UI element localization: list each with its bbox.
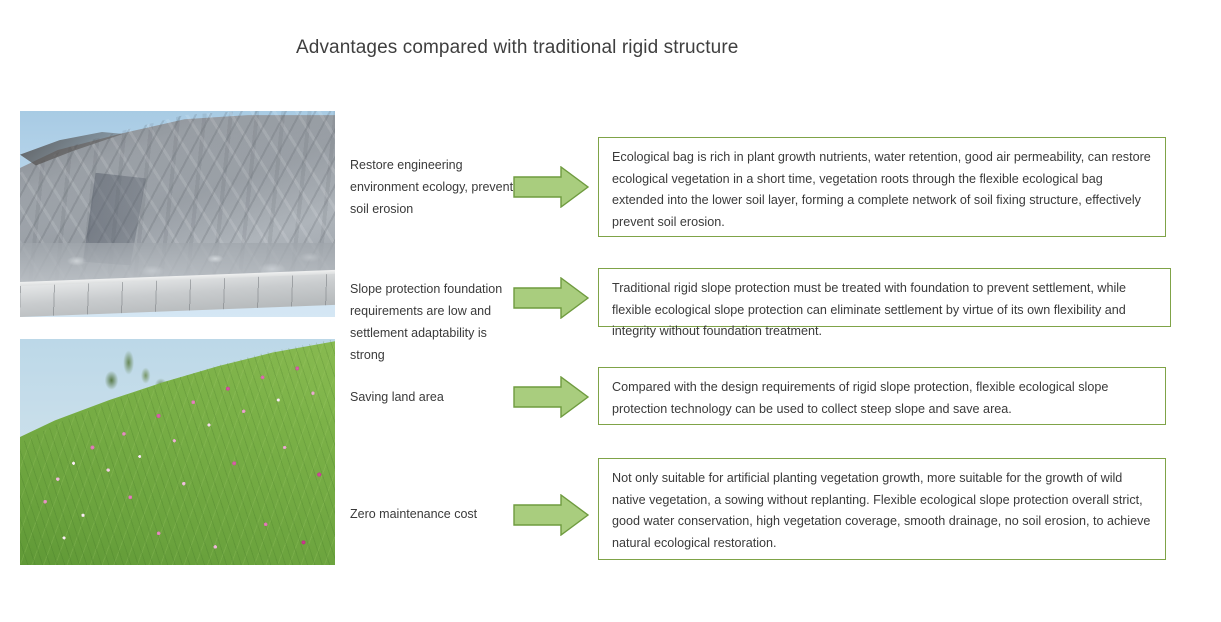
rock-slope-photo xyxy=(20,111,335,317)
arrow-right-icon-3 xyxy=(513,376,589,418)
row-label-saving-land-area: Saving land area xyxy=(350,386,525,408)
description-box-foundation-requirements: Traditional rigid slope protection must … xyxy=(598,268,1171,327)
arrow-right-icon-4 xyxy=(513,494,589,536)
row-label-zero-maintenance-cost: Zero maintenance cost xyxy=(350,503,525,525)
row-label-foundation-requirements: Slope protection foundation requirements… xyxy=(350,278,525,366)
page-title: Advantages compared with traditional rig… xyxy=(296,37,738,59)
description-box-restore-ecology: Ecological bag is rich in plant growth n… xyxy=(598,137,1166,237)
description-box-saving-land-area: Compared with the design requirements of… xyxy=(598,367,1166,425)
description-box-zero-maintenance-cost: Not only suitable for artificial plantin… xyxy=(598,458,1166,560)
row-label-restore-ecology: Restore engineering environment ecology,… xyxy=(350,154,525,220)
arrow-right-icon-2 xyxy=(513,277,589,319)
vegetated-slope-photo xyxy=(20,339,335,565)
arrow-right-icon-1 xyxy=(513,166,589,208)
